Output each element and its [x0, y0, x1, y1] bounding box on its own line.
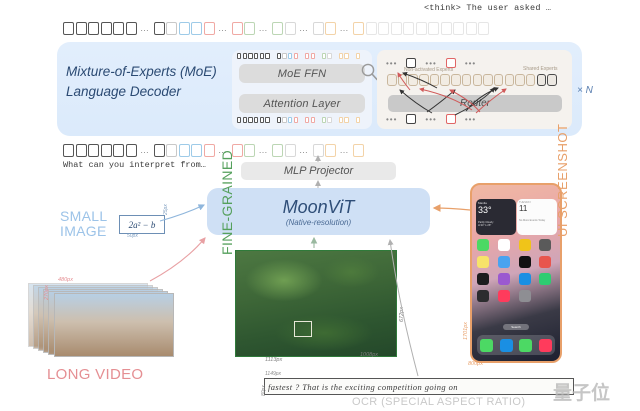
token [339, 117, 343, 123]
small-image-width-label: 50px [127, 233, 138, 239]
ui-screenshot-phone: Manila 33° Partly Cloudy H:34° L:26° TUE… [470, 183, 562, 363]
ellipsis: … [138, 24, 152, 33]
nonactivated-expert [430, 74, 440, 86]
decoder-input-tokens-top [237, 53, 360, 59]
safari-icon[interactable] [500, 339, 513, 352]
token-red [446, 114, 456, 124]
weather-temp: 33° [478, 205, 514, 215]
fine-grained-label: FINE-GRAINED [219, 150, 235, 255]
token [244, 144, 255, 157]
watermark: 量子位 [553, 378, 610, 405]
ellipsis: … [338, 24, 352, 33]
appletv-icon[interactable] [519, 256, 531, 268]
token [344, 53, 348, 59]
small-image-label-line2: IMAGE [60, 224, 107, 239]
shared-expert [547, 74, 557, 86]
token [294, 117, 298, 123]
token [285, 144, 296, 157]
expert-row [387, 74, 557, 86]
calendar-widget: TUESDAY 11 No More Events Today [517, 199, 557, 235]
token [478, 22, 489, 35]
token [378, 22, 389, 35]
token [88, 144, 99, 157]
mail-icon[interactable] [498, 256, 510, 268]
token [76, 144, 87, 157]
token [126, 22, 137, 35]
token [311, 117, 315, 123]
nonactivated-expert [473, 74, 483, 86]
token [353, 144, 364, 157]
clock-icon[interactable] [477, 273, 489, 285]
token [88, 22, 99, 35]
moe-title-line2: Language Decoder [66, 82, 246, 102]
calendar-icon[interactable] [498, 239, 510, 251]
token [265, 53, 269, 59]
ellipsis: … [138, 146, 152, 155]
long-video-frames [28, 283, 178, 355]
token [313, 22, 324, 35]
app-grid [477, 239, 555, 302]
token [179, 144, 190, 157]
token-sequence-input: …………… [63, 144, 364, 157]
token [166, 144, 177, 157]
token [277, 117, 281, 123]
news-icon[interactable] [539, 256, 551, 268]
decoder-input-tokens-bottom [237, 117, 360, 123]
token [126, 144, 137, 157]
ellipsis: … [297, 24, 311, 33]
ellipsis: ••• [425, 115, 436, 124]
shared-expert [537, 74, 547, 86]
token [272, 22, 283, 35]
fine-grained-inner-width-label: 1008px [360, 352, 378, 358]
token [305, 53, 309, 59]
ui-screenshot-label: UI SCREENSHOT [555, 124, 570, 237]
token [428, 22, 439, 35]
nonactivated-expert [440, 74, 450, 86]
token [416, 22, 427, 35]
token [101, 144, 112, 157]
ellipsis: ••• [465, 59, 476, 68]
token [403, 22, 414, 35]
token [322, 117, 326, 123]
nonactivated-expert [462, 74, 472, 86]
nonactivated-expert [387, 74, 397, 86]
ellipsis: ••• [386, 115, 397, 124]
notes-icon[interactable] [477, 256, 489, 268]
moonvit-block[interactable]: MoonViT (Native-resolution) [207, 188, 430, 235]
token [113, 22, 124, 35]
repeat-n-label: × N [577, 85, 593, 96]
camera-icon[interactable] [539, 239, 551, 251]
music-icon[interactable] [539, 339, 552, 352]
nonactivated-expert [515, 74, 525, 86]
long-video-height-label: 270px [44, 285, 50, 300]
token [179, 22, 190, 35]
token [76, 22, 87, 35]
token [441, 22, 452, 35]
calendar-day: 11 [519, 204, 555, 213]
dock [477, 335, 555, 355]
messages-icon[interactable] [519, 339, 532, 352]
token [191, 22, 202, 35]
token [322, 53, 326, 59]
nonactivated-expert [408, 74, 418, 86]
moonvit-title: MoonViT [283, 197, 355, 217]
phone-icon[interactable] [480, 339, 493, 352]
token [243, 117, 247, 123]
token [113, 144, 124, 157]
router-block[interactable]: Router [388, 95, 562, 112]
token [265, 117, 269, 123]
token [260, 53, 264, 59]
ocr-label: OCR (SPECIAL ASPECT RATIO) [352, 396, 525, 408]
ellipsis: … [257, 24, 271, 33]
ocr-height-label: 80px [261, 385, 267, 396]
token [63, 144, 74, 157]
token [237, 53, 241, 59]
ellipsis: … [338, 146, 352, 155]
ellipsis: … [216, 24, 230, 33]
token [466, 22, 477, 35]
token [366, 22, 377, 35]
token [260, 117, 264, 123]
token [305, 117, 309, 123]
token [277, 53, 281, 59]
long-video-label: LONG VIDEO [47, 366, 143, 383]
small-image-height-label: 25px [163, 204, 169, 215]
health-icon[interactable] [498, 290, 510, 302]
token [154, 22, 165, 35]
video-frame-front [54, 293, 174, 357]
podcasts-icon[interactable] [498, 273, 510, 285]
shared-experts-label: Shared Experts [523, 66, 557, 72]
moe-ffn-block[interactable]: MoE FFN [239, 64, 365, 83]
token [166, 22, 177, 35]
ellipsis: … [297, 146, 311, 155]
router-bottom-token-sequence: ••• ••• ••• [386, 114, 476, 124]
token-black [406, 114, 416, 124]
token [325, 22, 336, 35]
ellipsis: ••• [386, 59, 397, 68]
token [344, 117, 348, 123]
token [391, 22, 402, 35]
token [243, 53, 247, 59]
moe-panel-title: Mixture-of-Experts (MoE) Language Decode… [66, 62, 246, 102]
weather-range: H:34° L:26° [478, 224, 514, 227]
token [101, 22, 112, 35]
weather-city: Manila [478, 201, 514, 205]
settings-icon[interactable] [519, 290, 531, 302]
small-image-thumbnail: 2a² − b [119, 215, 165, 234]
token [254, 53, 258, 59]
token [327, 53, 331, 59]
token [288, 117, 292, 123]
moe-title-line1: Mixture-of-Experts (MoE) [66, 62, 246, 82]
prompt-text: What can you interpret from… [63, 160, 206, 170]
token [237, 117, 241, 123]
ellipsis: … [257, 146, 271, 155]
nonactivated-expert [483, 74, 493, 86]
nonactivated-experts-label: Non-activated Experts [404, 67, 453, 73]
ellipsis: ••• [465, 115, 476, 124]
token [282, 117, 286, 123]
nonactivated-expert [526, 74, 536, 86]
token [154, 144, 165, 157]
ocr-image: fastest ? That is the exciting competiti… [264, 378, 574, 395]
facetime-icon[interactable] [477, 239, 489, 251]
nonactivated-expert [494, 74, 504, 86]
search-pill[interactable]: Search [503, 324, 529, 330]
small-image-label-line1: SMALL [60, 209, 107, 224]
token [232, 22, 243, 35]
fine-grained-crop-box [294, 321, 312, 337]
token [254, 117, 258, 123]
token [327, 117, 331, 123]
token [204, 22, 215, 35]
token [285, 22, 296, 35]
maps-icon[interactable] [539, 273, 551, 285]
think-output-text: <think> The user asked … [424, 3, 551, 13]
calendar-note: No More Events Today [519, 219, 555, 222]
fine-grained-height-label: 672px [399, 307, 405, 322]
token [453, 22, 464, 35]
token [356, 117, 360, 123]
token [248, 53, 252, 59]
token-sequence-output: …………… [63, 22, 489, 35]
fine-grained-image [235, 250, 397, 357]
token [325, 144, 336, 157]
token [244, 22, 255, 35]
long-video-width-label: 480px [58, 277, 73, 283]
nonactivated-expert [505, 74, 515, 86]
photos-icon[interactable] [519, 239, 531, 251]
token [313, 144, 324, 157]
token [248, 117, 252, 123]
small-image-label: SMALL IMAGE [60, 209, 107, 239]
appstore-icon[interactable] [519, 273, 531, 285]
ui-screenshot-height-label: 1701px [463, 322, 469, 340]
token [294, 53, 298, 59]
token [288, 53, 292, 59]
attention-layer-block[interactable]: Attention Layer [239, 94, 365, 113]
mlp-projector-block[interactable]: MLP Projector [241, 162, 396, 180]
token [204, 144, 215, 157]
token [191, 144, 202, 157]
wallet-icon[interactable] [477, 290, 489, 302]
token [356, 53, 360, 59]
token [353, 22, 364, 35]
nonactivated-expert [451, 74, 461, 86]
weather-widget: Manila 33° Partly Cloudy H:34° L:26° [476, 199, 516, 235]
nonactivated-expert [419, 74, 429, 86]
ocr-width-label: 1149px [265, 371, 281, 377]
token [339, 53, 343, 59]
token [282, 53, 286, 59]
token [63, 22, 74, 35]
nonactivated-expert [398, 74, 408, 86]
token [311, 53, 315, 59]
token [272, 144, 283, 157]
ui-screenshot-width-label: 800px [468, 361, 483, 367]
moonvit-subtitle: (Native-resolution) [286, 218, 351, 227]
fine-grained-outer-width-label: 1113px [265, 357, 282, 363]
